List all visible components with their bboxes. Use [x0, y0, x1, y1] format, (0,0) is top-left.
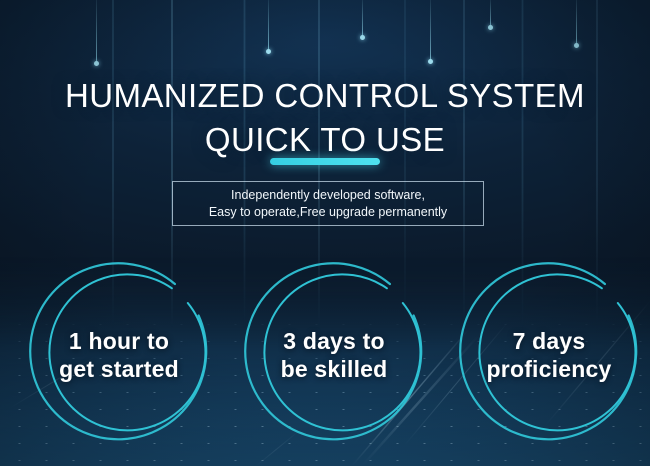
headline-line-2: QUICK TO USE — [0, 118, 650, 162]
feature-circle-one-hour: 1 hour to get started — [24, 262, 214, 448]
feature-label-line-2: get started — [24, 355, 214, 383]
promo-banner: HUMANIZED CONTROL SYSTEM QUICK TO USE In… — [0, 0, 650, 466]
subtitle-box: Independently developed software, Easy t… — [172, 181, 484, 226]
feature-label-line-2: proficiency — [454, 355, 644, 383]
subtitle-text: Independently developed software, Easy t… — [209, 187, 447, 221]
feature-label-line-1: 7 days — [454, 327, 644, 355]
feature-label-line-2: be skilled — [239, 355, 429, 383]
feature-label-one-hour: 1 hour to get started — [24, 327, 214, 383]
feature-circle-row: 1 hour to get started 3 days to be skill… — [0, 262, 650, 452]
subtitle-line-2: Easy to operate,Free upgrade permanently — [209, 204, 447, 221]
feature-label-line-1: 3 days to — [239, 327, 429, 355]
feature-circle-seven-days: 7 days proficiency — [454, 262, 644, 448]
accent-divider — [270, 158, 380, 165]
page-title: HUMANIZED CONTROL SYSTEM QUICK TO USE — [0, 74, 650, 162]
feature-circle-three-days: 3 days to be skilled — [239, 262, 429, 448]
feature-label-seven-days: 7 days proficiency — [454, 327, 644, 383]
feature-label-three-days: 3 days to be skilled — [239, 327, 429, 383]
feature-label-line-1: 1 hour to — [24, 327, 214, 355]
headline-line-1: HUMANIZED CONTROL SYSTEM — [0, 74, 650, 118]
subtitle-line-1: Independently developed software, — [209, 187, 447, 204]
